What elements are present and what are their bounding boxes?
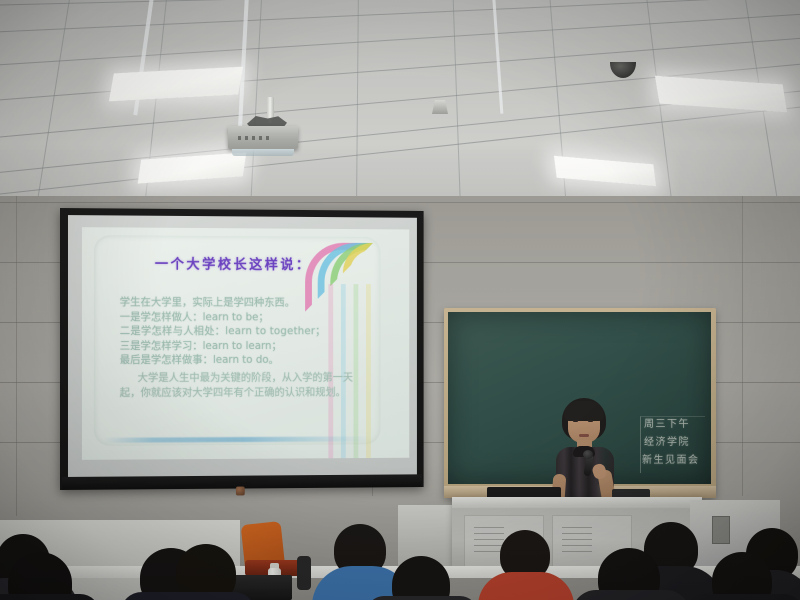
ceiling-projector xyxy=(228,126,298,149)
ceiling xyxy=(0,0,800,205)
slide-paragraph: 大学是人生中最为关键的阶段，从入学的第一天起，你就应该对大学四年有个正确的认识和… xyxy=(120,371,363,400)
presenter-mouth xyxy=(579,434,589,437)
slide-line-1: 学生在大学里，实际上是学四种东西。 xyxy=(120,295,363,310)
ceiling-light-4 xyxy=(554,156,656,186)
presenter-hair-front xyxy=(564,401,604,421)
slide-body: 学生在大学里，实际上是学四种东西。 一是学怎样做人：learn to be； 二… xyxy=(120,295,363,400)
slide-footer-band xyxy=(104,436,371,442)
audience-body xyxy=(0,594,100,600)
audience-body xyxy=(572,590,690,600)
audience-body xyxy=(120,592,256,600)
slide-line-3: 二是学怎样与人相处：learn to together； xyxy=(120,324,363,339)
slide-card: 一个大学校长这样说： 学生在大学里，实际上是学四种东西。 一是学怎样做人：lea… xyxy=(94,235,381,446)
chalk-line-2: 经济学院 xyxy=(644,436,690,450)
audience-body xyxy=(688,594,800,600)
projection-screen: 一个大学校长这样说： 学生在大学里，实际上是学四种东西。 一是学怎样做人：lea… xyxy=(60,208,424,490)
ceiling-speaker-icon xyxy=(432,100,448,114)
slide-line-5: 最后是学怎样做事：learn to do。 xyxy=(120,353,363,368)
screen-surface: 一个大学校长这样说： 学生在大学里，实际上是学四种东西。 一是学怎样做人：lea… xyxy=(68,215,417,478)
dome-camera-icon xyxy=(610,62,636,78)
chalk-line-3: 新生见面会 xyxy=(642,454,700,468)
chair-armrest xyxy=(297,556,311,590)
audience-body xyxy=(366,596,478,600)
screen-pull-knob[interactable] xyxy=(236,487,245,496)
ceiling-light-1 xyxy=(109,67,243,102)
desk-right-slot xyxy=(712,516,730,544)
presentation-slide: 一个大学校长这样说： 学生在大学里，实际上是学四种东西。 一是学怎样做人：lea… xyxy=(82,227,409,460)
presenter-eye-right xyxy=(588,420,593,422)
projector-lens xyxy=(232,149,294,156)
ceiling-light-3 xyxy=(655,76,787,113)
slide-title: 一个大学校长这样说： xyxy=(94,252,371,273)
presenter-eye-left xyxy=(573,420,578,422)
lecture-hall-photo: 一个大学校长这样说： 学生在大学里，实际上是学四种东西。 一是学怎样做人：lea… xyxy=(0,0,800,600)
slide-line-2: 一是学怎样做人：learn to be； xyxy=(120,310,363,325)
microphone-head xyxy=(583,450,593,459)
chalk-line-1: 周三下午 xyxy=(644,418,690,432)
slide-line-4: 三是学怎样学习：learn to learn； xyxy=(120,339,363,354)
podium-top xyxy=(452,497,702,506)
